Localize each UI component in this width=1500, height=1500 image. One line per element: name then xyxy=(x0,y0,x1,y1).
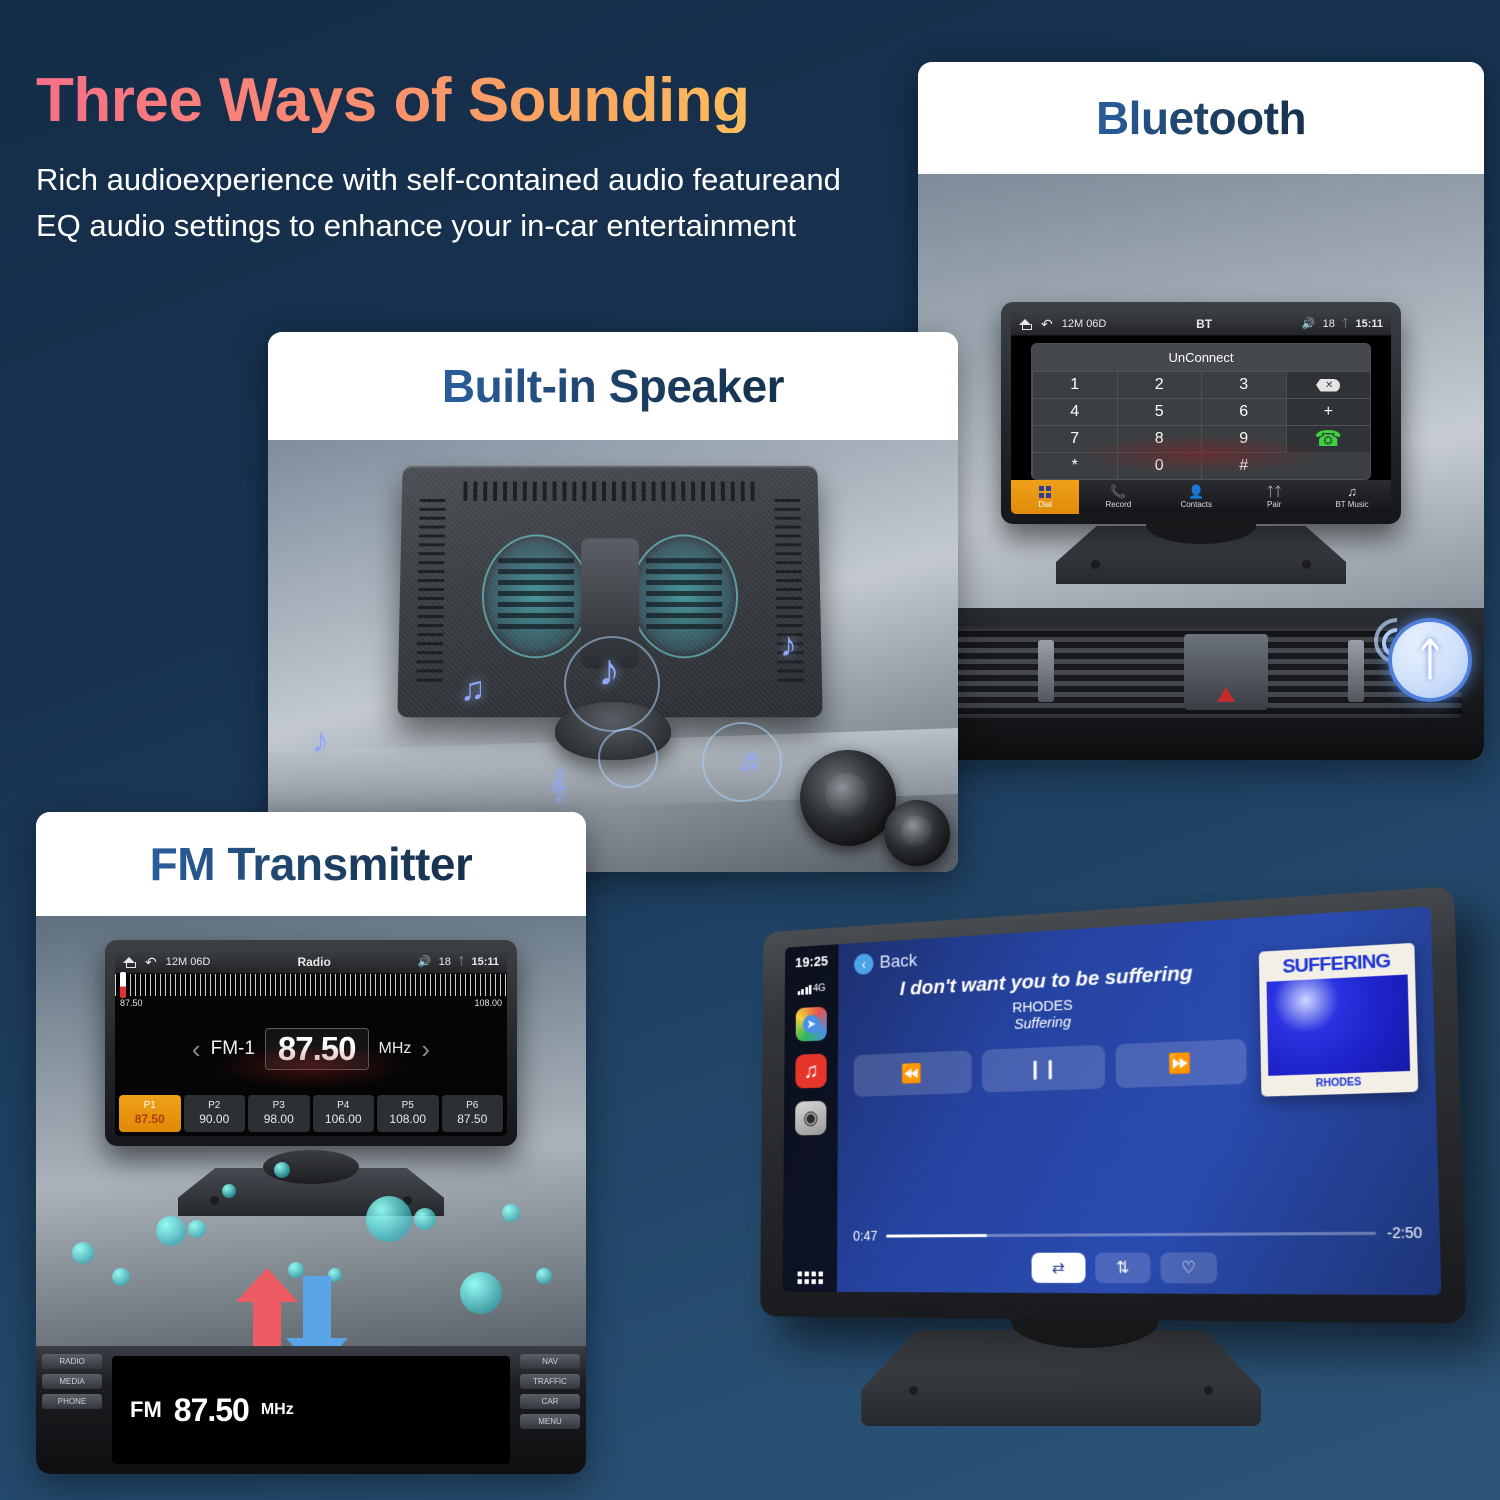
frequency-row: ‹ FM-1 87.50 MHz › xyxy=(115,1008,507,1091)
now-playing-row: I don't want you to be suffering RHODES … xyxy=(853,943,1421,1221)
music-note-icon-3: ♪ xyxy=(780,626,797,665)
carplay-time: 19:25 xyxy=(795,954,828,971)
fm-card: FM Transmitter ↶ 12M 06D Radio 🔊 18 ᛏ 15… xyxy=(36,812,586,1474)
nav-dial[interactable]: Dial xyxy=(1011,480,1079,514)
bluetooth-card-header: Bluetooth xyxy=(918,62,1484,174)
preset-p1-label: P1 xyxy=(119,1100,181,1113)
vent-center-panel xyxy=(1184,634,1268,710)
dialpad-body: UnConnect 1 2 3 ✕ 4 5 6 + 7 8 9 xyxy=(1011,336,1391,480)
dial-key-6[interactable]: 6 xyxy=(1201,398,1286,425)
now-playing-info: I don't want you to be suffering RHODES … xyxy=(853,953,1249,1221)
signal-bubble-13 xyxy=(536,1268,552,1284)
nav-contacts[interactable]: 👤 Contacts xyxy=(1157,480,1235,514)
tuner-max: 108.00 xyxy=(474,998,502,1008)
bluetooth-heading: Bluetooth xyxy=(1096,91,1306,145)
backspace-key[interactable]: ✕ xyxy=(1286,371,1371,398)
cs-button-car[interactable]: CAR xyxy=(520,1394,580,1409)
dial-key-2[interactable]: 2 xyxy=(1117,371,1202,398)
vent-knob-left xyxy=(1038,640,1054,702)
contacts-icon: 👤 xyxy=(1188,485,1204,498)
back-arrow-icon[interactable]: ↶ xyxy=(145,955,157,969)
volume-icon: 🔊 xyxy=(1302,317,1316,330)
speaker-heading: Built-in Speaker xyxy=(442,359,784,413)
fm-status-title: Radio xyxy=(219,955,409,969)
music-note-icon: ♫ xyxy=(1347,485,1357,498)
remaining-time: -2:50 xyxy=(1387,1224,1422,1241)
car-stereo-right-buttons: NAV TRAFFIC CAR MENU xyxy=(514,1346,586,1474)
carplay-sidebar: 19:25 4G ➤ ♫ ◉ xyxy=(783,944,839,1292)
bt-status-title: BT xyxy=(1115,317,1293,331)
preset-p3-label: P3 xyxy=(248,1100,310,1113)
signal-strength-icon: 4G xyxy=(797,982,825,995)
volume-icon: 🔊 xyxy=(418,955,432,968)
preset-p4[interactable]: P4 106.00 xyxy=(313,1095,375,1133)
shuffle-icon[interactable]: ⇅ xyxy=(1095,1253,1151,1284)
bt-connection-status: UnConnect xyxy=(1032,344,1370,371)
apple-maps-icon[interactable]: ➤ xyxy=(796,1006,827,1041)
hazard-light-icon xyxy=(1217,687,1235,702)
fm-photo: ↶ 12M 06D Radio 🔊 18 ᛏ 15:11 87. xyxy=(36,916,586,1474)
bluetooth-icon: ᛏ xyxy=(1342,318,1349,330)
fm-device-screen: ↶ 12M 06D Radio 🔊 18 ᛏ 15:11 87. xyxy=(115,950,507,1136)
cs-band: FM xyxy=(130,1397,162,1423)
tuner-marker[interactable] xyxy=(120,972,126,998)
radio-body: 87.50 108.00 ‹ FM-1 87.50 MHz › P1 xyxy=(115,974,507,1136)
music-note-icon-6: ♬ xyxy=(738,744,768,778)
speaker-glow-right xyxy=(630,534,739,658)
nav-pair-label: Pair xyxy=(1267,500,1281,509)
speaker-card: Built-in Speaker ♫ ♪ ♪ ♪ 𝄞 ♬ xyxy=(268,332,958,872)
bluetooth-device: ↶ 12M 06D BT 🔊 18 ᛏ 15:11 UnConnect xyxy=(1001,302,1401,524)
album-art: SUFFERING RHODES xyxy=(1259,943,1422,1217)
preset-p5-label: P5 xyxy=(377,1100,439,1113)
preset-p6-label: P6 xyxy=(442,1100,504,1113)
app-grid-icon[interactable] xyxy=(797,1271,822,1284)
fm-volume-value: 18 xyxy=(439,956,451,968)
nav-contacts-label: Contacts xyxy=(1180,500,1212,509)
signal-bubble-2 xyxy=(156,1216,186,1246)
dial-key-4[interactable]: 4 xyxy=(1032,398,1117,425)
headline-block: Three Ways of Sounding Rich audioexperie… xyxy=(36,68,926,249)
woofer-large-icon xyxy=(800,750,896,846)
signal-bubble-8 xyxy=(502,1204,520,1222)
bt-status-bar: ↶ 12M 06D BT 🔊 18 ᛏ 15:11 xyxy=(1011,312,1391,336)
bluetooth-glyph: ᛏ xyxy=(1388,618,1472,702)
grey-app-icon[interactable]: ◉ xyxy=(795,1100,826,1135)
cs-unit: MHz xyxy=(261,1401,294,1419)
preset-p3-value: 98.00 xyxy=(248,1112,310,1127)
signal-bubble-3 xyxy=(188,1220,206,1238)
preset-p1[interactable]: P1 87.50 xyxy=(119,1095,181,1133)
hero-device: 19:25 4G ➤ ♫ ◉ ‹ Back xyxy=(690,898,1480,1488)
back-arrow-icon[interactable]: ↶ xyxy=(1041,317,1053,331)
preset-row: P1 87.50 P2 90.00 P3 98.00 P4 xyxy=(115,1091,507,1137)
music-note-icon-4: ♪ xyxy=(312,722,329,761)
secondary-controls: ⇄ ⇅ ♡ xyxy=(853,1252,1423,1284)
signal-bubble-12 xyxy=(460,1272,502,1314)
album-sleeve: SUFFERING RHODES xyxy=(1259,943,1419,1097)
car-stereo-display: FM 87.50 MHz xyxy=(112,1356,510,1464)
tuner-min: 87.50 xyxy=(120,998,143,1008)
cs-frequency: 87.50 xyxy=(174,1392,249,1429)
preset-p4-value: 106.00 xyxy=(313,1112,375,1127)
car-stereo-unit: RADIO MEDIA PHONE FM 87.50 MHz NAV TRAFF… xyxy=(36,1346,586,1474)
home-icon[interactable] xyxy=(123,955,136,968)
vent-knob-right xyxy=(1348,640,1364,702)
bluetooth-badge-icon: ᛏ xyxy=(1376,606,1472,702)
chevron-left-icon[interactable]: ‹ xyxy=(192,1034,201,1065)
pause-icon[interactable]: ❙❙ xyxy=(981,1045,1105,1093)
bt-bottom-nav: Dial 📞 Record 👤 Contacts ᛏᛏ Pair xyxy=(1011,480,1391,514)
dialpad-grid-icon xyxy=(1039,486,1051,498)
page-title: Three Ways of Sounding xyxy=(36,68,926,133)
call-record-icon: 📞 xyxy=(1110,485,1126,498)
album-artist: RHODES xyxy=(1268,1075,1410,1091)
music-note-icon-1: ♫ xyxy=(460,670,486,709)
rear-side-vents-left xyxy=(416,499,445,687)
signal-bubble-6 xyxy=(366,1196,412,1242)
home-icon[interactable] xyxy=(1019,317,1032,330)
carplay-network: 4G xyxy=(813,982,826,994)
fm-status-bar: ↶ 12M 06D Radio 🔊 18 ᛏ 15:11 xyxy=(115,950,507,974)
cs-button-radio[interactable]: RADIO xyxy=(42,1354,102,1369)
preset-p1-value: 87.50 xyxy=(119,1112,181,1127)
preset-p2[interactable]: P2 90.00 xyxy=(184,1095,246,1133)
playback-controls: ⏪ ❙❙ ⏩ xyxy=(854,1039,1247,1097)
speaker-glow-left xyxy=(481,534,590,658)
bluetooth-device-screen: ↶ 12M 06D BT 🔊 18 ᛏ 15:11 UnConnect xyxy=(1011,312,1391,514)
screen-glow xyxy=(213,1043,409,1089)
preset-p2-label: P2 xyxy=(184,1100,246,1113)
hero-device-shell: 19:25 4G ➤ ♫ ◉ ‹ Back xyxy=(760,886,1467,1324)
cs-button-nav[interactable]: NAV xyxy=(520,1354,580,1369)
bluetooth-icon: ᛏ xyxy=(458,956,465,968)
screen-glow xyxy=(1079,434,1322,474)
tuner-range: 87.50 108.00 xyxy=(115,996,507,1008)
cs-button-phone[interactable]: PHONE xyxy=(42,1394,102,1409)
backspace-icon: ✕ xyxy=(1316,379,1340,392)
fm-status-time: 15:11 xyxy=(471,956,499,968)
nav-dial-label: Dial xyxy=(1038,500,1052,509)
preset-p4-label: P4 xyxy=(313,1100,375,1113)
signal-bubble-9 xyxy=(112,1268,130,1286)
dial-key-1[interactable]: 1 xyxy=(1032,371,1117,398)
fm-heading: FM Transmitter xyxy=(150,837,473,891)
sound-ring-2 xyxy=(598,728,658,788)
chevron-left-circle-icon: ‹ xyxy=(854,953,873,975)
preset-p2-value: 90.00 xyxy=(184,1112,246,1127)
cs-button-menu[interactable]: MENU xyxy=(520,1414,580,1429)
fm-device: ↶ 12M 06D Radio 🔊 18 ᛏ 15:11 87. xyxy=(105,940,517,1146)
preset-p5-value: 108.00 xyxy=(377,1112,439,1127)
tuner-scale[interactable] xyxy=(115,974,507,996)
repeat-icon[interactable]: ⇄ xyxy=(1031,1253,1085,1283)
nav-bt-music[interactable]: ♫ BT Music xyxy=(1313,480,1391,514)
music-note-icon-5: 𝄞 xyxy=(550,770,567,803)
progress-bar[interactable] xyxy=(886,1231,1376,1237)
preset-p6[interactable]: P6 87.50 xyxy=(442,1095,504,1133)
speaker-photo: ♫ ♪ ♪ ♪ 𝄞 ♬ xyxy=(268,440,958,872)
album-title: SUFFERING xyxy=(1266,951,1407,978)
dial-key-5[interactable]: 5 xyxy=(1117,398,1202,425)
elapsed-time: 0:47 xyxy=(853,1228,877,1244)
back-label: Back xyxy=(880,951,918,974)
fm-status-date: 12M 06D xyxy=(166,956,211,968)
fast-forward-icon[interactable]: ⏩ xyxy=(1116,1039,1247,1088)
carplay-main: ‹ Back I don't want you to be suffering … xyxy=(837,906,1441,1295)
fm-card-header: FM Transmitter xyxy=(36,812,586,916)
car-stereo-left-buttons: RADIO MEDIA PHONE xyxy=(36,1346,108,1474)
progress-row: 0:47 -2:50 xyxy=(853,1224,1422,1244)
signal-bubble-1 xyxy=(72,1242,94,1264)
music-note-icon-2: ♪ xyxy=(598,646,620,696)
signal-bubble-4 xyxy=(222,1184,236,1198)
cs-button-traffic[interactable]: TRAFFIC xyxy=(520,1374,580,1389)
preset-p5[interactable]: P5 108.00 xyxy=(377,1095,439,1133)
bt-status-time: 15:11 xyxy=(1355,318,1383,330)
preset-p3[interactable]: P3 98.00 xyxy=(248,1095,310,1133)
preset-p6-value: 87.50 xyxy=(442,1112,504,1127)
bluetooth-pair-icon: ᛏᛏ xyxy=(1266,485,1282,498)
nav-record[interactable]: 📞 Record xyxy=(1079,480,1157,514)
rewind-icon[interactable]: ⏪ xyxy=(854,1051,972,1098)
page-subtitle: Rich audioexperience with self-contained… xyxy=(36,157,876,249)
nav-record-label: Record xyxy=(1105,500,1131,509)
bt-volume-value: 18 xyxy=(1323,318,1335,330)
cs-button-media[interactable]: MEDIA xyxy=(42,1374,102,1389)
signal-bubble-7 xyxy=(414,1208,436,1230)
plus-key[interactable]: + xyxy=(1286,398,1371,425)
nav-bt-music-label: BT Music xyxy=(1335,500,1368,509)
nav-pair[interactable]: ᛏᛏ Pair xyxy=(1235,480,1313,514)
signal-bubble-5 xyxy=(274,1162,290,1178)
heart-icon[interactable]: ♡ xyxy=(1160,1252,1217,1283)
netease-music-icon[interactable]: ♫ xyxy=(795,1053,826,1088)
album-photo xyxy=(1267,974,1411,1075)
carplay-screen: 19:25 4G ➤ ♫ ◉ ‹ Back xyxy=(783,906,1442,1295)
chevron-right-icon[interactable]: › xyxy=(421,1034,430,1065)
bluetooth-photo: ↶ 12M 06D BT 🔊 18 ᛏ 15:11 UnConnect xyxy=(918,174,1484,760)
dial-key-3[interactable]: 3 xyxy=(1201,371,1286,398)
bt-status-date: 12M 06D xyxy=(1062,318,1107,330)
speaker-card-header: Built-in Speaker xyxy=(268,332,958,440)
speaker-graphic xyxy=(800,746,950,866)
woofer-small-icon xyxy=(884,800,950,866)
bluetooth-card: Bluetooth ↶ 12M 06D BT 🔊 18 xyxy=(918,62,1484,760)
rear-vent-slits xyxy=(463,481,756,501)
